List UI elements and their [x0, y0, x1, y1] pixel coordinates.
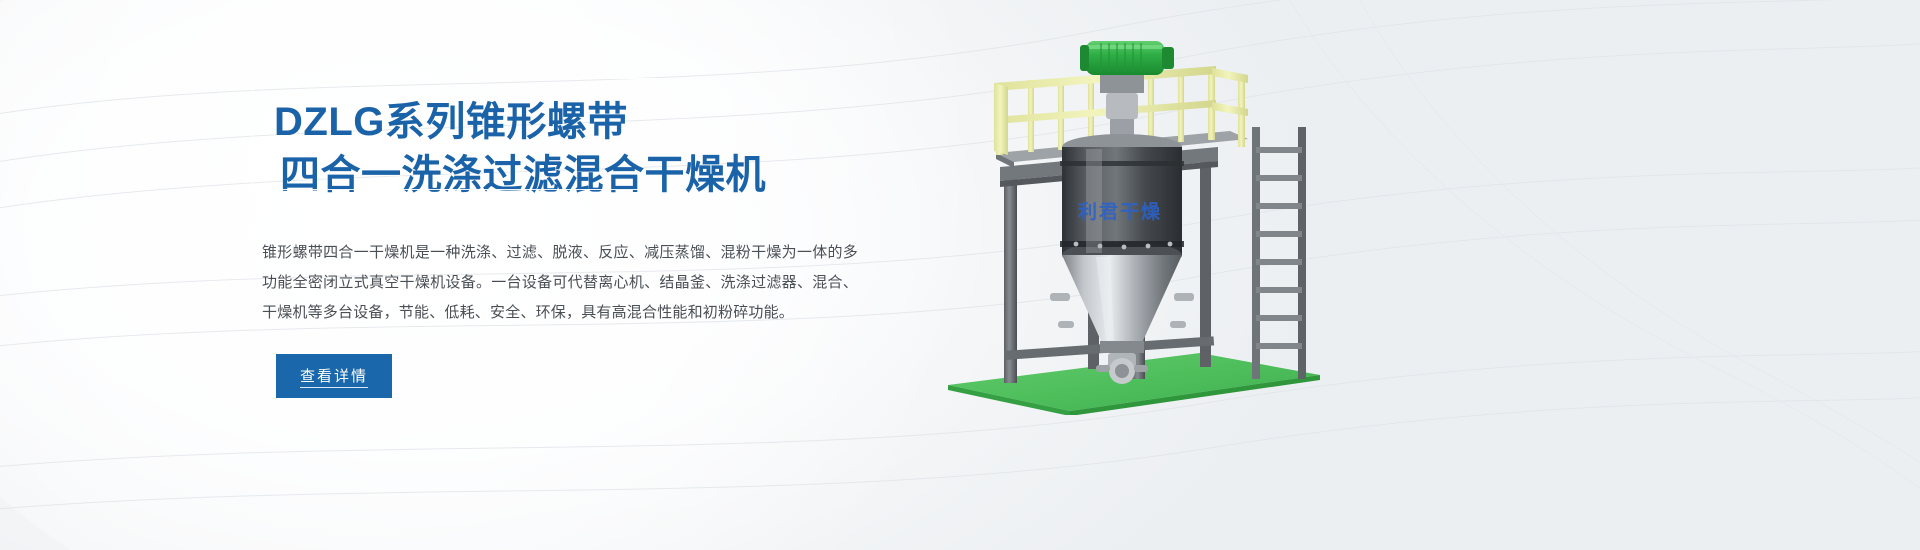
banner-content: DZLG系列锥形螺带 四合一洗涤过滤混合干燥机 锥形螺带四合一干燥机是一种洗涤、…	[258, 78, 878, 398]
gearbox	[1100, 75, 1144, 141]
view-details-button[interactable]: 查看详情	[276, 354, 392, 398]
product-illustration	[900, 35, 1370, 415]
hero-banner: DZLG系列锥形螺带 四合一洗涤过滤混合干燥机 锥形螺带四合一干燥机是一种洗涤、…	[0, 0, 1920, 550]
page-title: DZLG系列锥形螺带 四合一洗涤过滤混合干燥机	[274, 96, 878, 202]
access-ladder	[1252, 127, 1306, 379]
view-details-label: 查看详情	[300, 368, 368, 388]
headline-line-2: 四合一洗涤过滤混合干燥机	[280, 149, 878, 202]
headline-line-1: DZLG系列锥形螺带	[274, 96, 878, 149]
product-description: 锥形螺带四合一干燥机是一种洗涤、过滤、脱液、反应、减压蒸馏、混粉干燥为一体的多功…	[262, 238, 858, 328]
drive-motor	[1080, 41, 1174, 75]
title-block: DZLG系列锥形螺带 四合一洗涤过滤混合干燥机	[258, 78, 878, 208]
conical-vessel	[1060, 134, 1184, 353]
